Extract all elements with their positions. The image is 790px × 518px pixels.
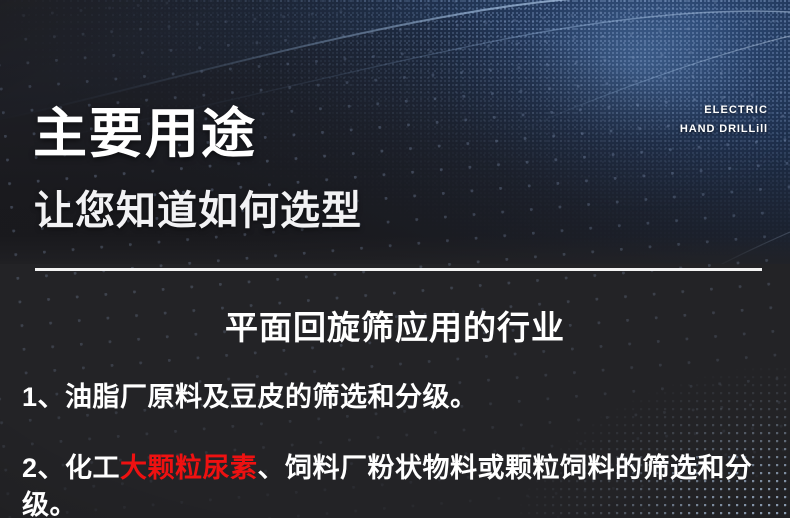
brand-line-1: ELECTRIC (680, 101, 768, 120)
section-heading: 平面回旋筛应用的行业 (0, 301, 790, 349)
page-title: 主要用途 (33, 103, 257, 165)
brand-mark: ELECTRIC HAND DRILLill (680, 101, 768, 139)
list-item-index: 2、 (22, 453, 65, 483)
divider (35, 268, 762, 271)
page-subtitle: 让您知道如何选型 (34, 186, 362, 236)
list-item-text: 油脂厂原料及豆皮的筛选和分级。 (65, 382, 478, 412)
poster-canvas: ELECTRIC HAND DRILLill 主要用途 让您知道如何选型 平面回… (0, 0, 790, 518)
list-item-index: 1、 (22, 382, 65, 412)
brand-line-2: HAND DRILLill (680, 120, 768, 139)
list-item-highlight: 大颗粒尿素 (120, 453, 258, 483)
list-item: 2、化工大颗粒尿素、饲料厂粉状物料或颗粒饲料的筛选和分级。 (22, 450, 772, 518)
list-item: 1、油脂厂原料及豆皮的筛选和分级。 (22, 379, 478, 416)
content-layer: ELECTRIC HAND DRILLill 主要用途 让您知道如何选型 平面回… (0, 0, 790, 518)
list-item-prefix: 化工 (65, 453, 120, 483)
